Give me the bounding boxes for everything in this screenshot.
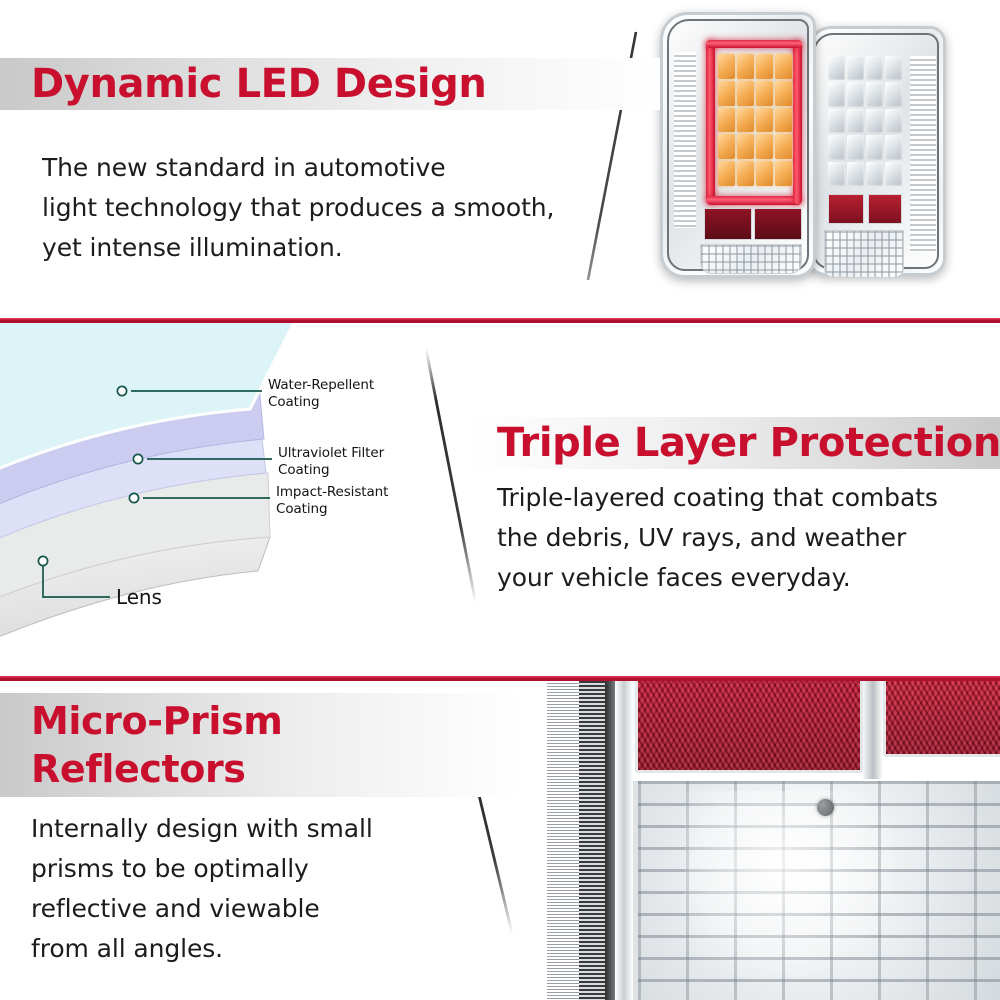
- body-line: Triple-layered coating that combats: [497, 478, 997, 518]
- body-line: The new standard in automotive: [42, 148, 622, 188]
- body-line: reflective and viewable: [31, 889, 451, 929]
- lens-coating-layer-diagram: [0, 323, 470, 676]
- taillight-left: [660, 12, 816, 278]
- red-reflector-panel-left: [635, 681, 863, 773]
- label-line: Ultraviolet Filter: [278, 445, 384, 462]
- body-line: your vehicle faces everyday.: [497, 558, 997, 598]
- prism-reflector-closeup-photo: [535, 681, 1000, 1000]
- heading-band-triple-layer: Triple Layer Protection: [470, 417, 1000, 469]
- body-line: light technology that produces a smooth,: [42, 188, 622, 228]
- label-line: Water-Repellent: [268, 377, 374, 394]
- label-line: Coating: [278, 462, 384, 479]
- section-micro-prism: Micro-Prism Reflectors Internally design…: [0, 681, 1000, 1000]
- body-triple-layer: Triple-layered coating that combats the …: [497, 478, 997, 598]
- heading-band-dynamic-led: Dynamic LED Design: [0, 58, 660, 110]
- led-taillight-pair-photo: [610, 0, 1000, 318]
- body-line: prisms to be optimally: [31, 849, 451, 889]
- heading-dynamic-led: Dynamic LED Design: [31, 59, 486, 109]
- body-line: the debris, UV rays, and weather: [497, 518, 997, 558]
- heading-triple-layer: Triple Layer Protection: [497, 418, 1000, 468]
- taillight-right: [806, 26, 946, 276]
- label-line: Coating: [268, 394, 374, 411]
- heading-micro-prism-line2: Reflectors: [31, 745, 520, 793]
- heading-band-micro-prism: Micro-Prism Reflectors: [0, 693, 520, 797]
- heading-micro-prism-line1: Micro-Prism: [31, 697, 520, 745]
- body-dynamic-led: The new standard in automotive light tec…: [42, 148, 622, 268]
- label-impact-resistant-coating: Impact-Resistant Coating: [276, 484, 388, 518]
- label-water-repellent-coating: Water-Repellent Coating: [268, 377, 374, 411]
- body-line: Internally design with small: [31, 809, 451, 849]
- section-dynamic-led: Dynamic LED Design The new standard in a…: [0, 0, 1000, 318]
- section-triple-layer: Water-Repellent Coating Ultraviolet Filt…: [0, 323, 1000, 676]
- body-line: from all angles.: [31, 929, 451, 969]
- product-feature-infographic: Dynamic LED Design The new standard in a…: [0, 0, 1000, 1000]
- label-ultraviolet-filter-coating: Ultraviolet Filter Coating: [278, 445, 384, 479]
- label-line: Impact-Resistant: [276, 484, 388, 501]
- label-lens: Lens: [116, 585, 162, 609]
- body-micro-prism: Internally design with small prisms to b…: [31, 809, 451, 969]
- red-reflector-panel-right: [883, 681, 1000, 757]
- label-line: Coating: [276, 501, 388, 518]
- body-line: yet intense illumination.: [42, 228, 622, 268]
